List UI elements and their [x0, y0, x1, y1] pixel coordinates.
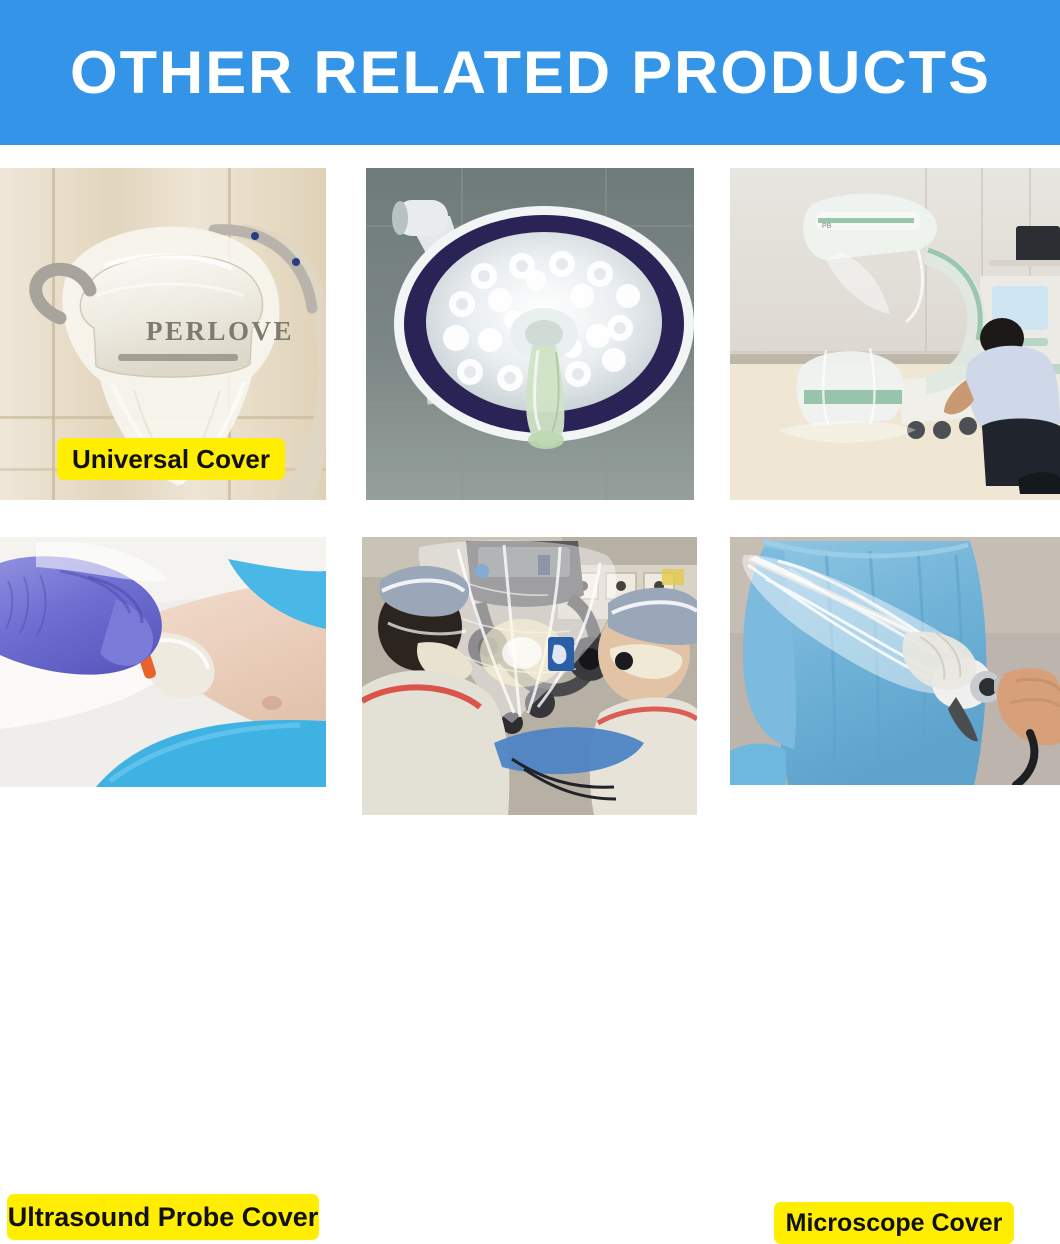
product-image-microscope-cover — [362, 537, 697, 815]
product-label-microscope-cover: Microscope Cover — [774, 1202, 1014, 1244]
product-image-c-arm-cover: PB — [730, 168, 1060, 500]
product-card-microscope-cover[interactable]: Microscope Cover — [362, 537, 697, 815]
page-title: OTHER RELATED PRODUCTS — [70, 43, 991, 103]
svg-text:PB: PB — [822, 223, 832, 230]
product-image-ultrasound-probe-cover — [0, 537, 326, 787]
product-card-universal-cover[interactable]: PERLOVE Universal Cover — [0, 168, 326, 500]
product-image-endoscope-cover — [730, 537, 1060, 785]
device-brand-text: PERLOVE — [146, 316, 294, 346]
product-grid: PERLOVE Universal Cover — [0, 145, 1060, 863]
product-label-universal-cover: Universal Cover — [57, 438, 285, 480]
product-image-light-handle-cover — [366, 168, 694, 500]
product-showcase-page: OTHER RELATED PRODUCTS — [0, 0, 1060, 863]
product-card-endoscope-cover[interactable]: Endoscope Cover — [730, 537, 1060, 785]
product-card-c-arm-cover[interactable]: PB — [730, 168, 1060, 500]
product-label-ultrasound-probe-cover: Ultrasound Probe Cover — [7, 1194, 319, 1240]
product-card-ultrasound-probe-cover[interactable]: Ultrasound Probe Cover — [0, 537, 326, 787]
product-card-light-handle-cover[interactable]: Light Handle Cover — [366, 168, 694, 500]
page-header-banner: OTHER RELATED PRODUCTS — [0, 0, 1060, 145]
